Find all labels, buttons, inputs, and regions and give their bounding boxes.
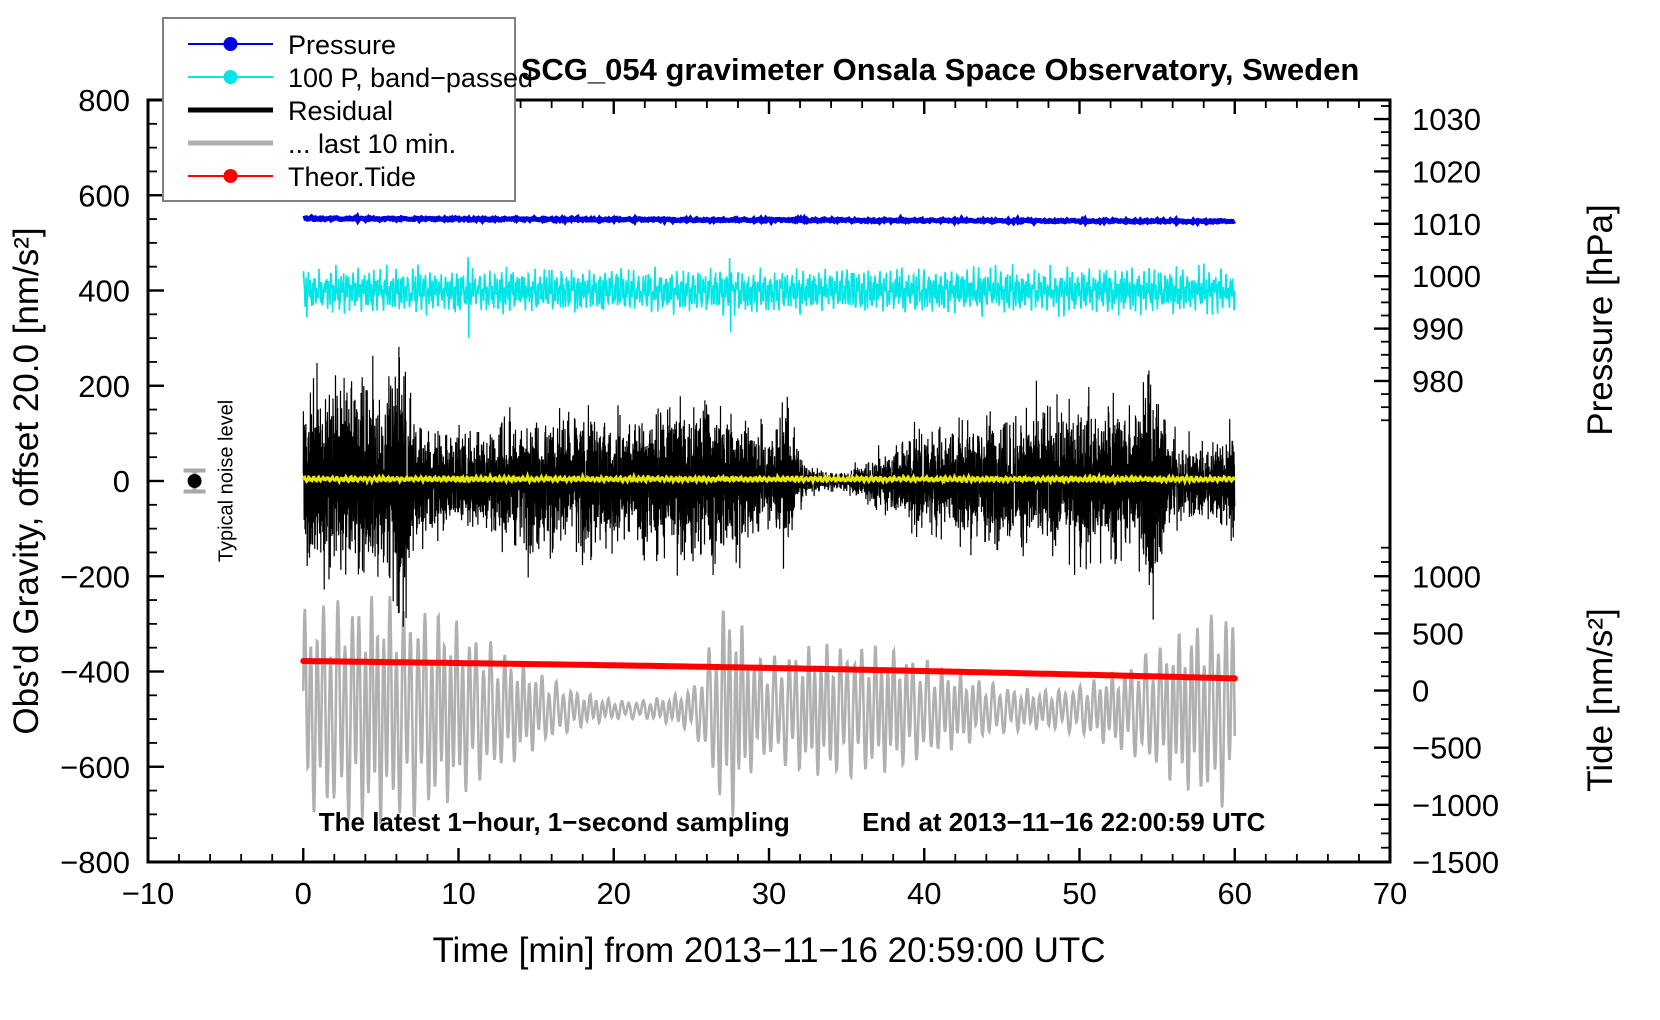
legend-marker-4 (224, 169, 238, 183)
series-last10min (303, 596, 1235, 824)
annotation-typical-noise-level: Typical noise level (216, 400, 238, 562)
pressure-axis-title: Pressure [hPa] (1581, 204, 1620, 436)
x-axis-title: Time [min] from 2013−11−16 20:59:00 UTC (432, 931, 1105, 970)
x-tick-label: 10 (441, 876, 475, 911)
y-tick-label: 200 (78, 369, 130, 404)
noise-errorbar-dot (188, 474, 202, 488)
legend-label-1: 100 P, band−passed (288, 63, 533, 93)
series-residual (303, 347, 1235, 627)
y-tick-label: 800 (78, 83, 130, 118)
tide-tick-label: 500 (1412, 616, 1464, 651)
pressure-tick-label: 1020 (1412, 154, 1481, 189)
y-axis-title: Obs'd Gravity, offset 20.0 [nm/s²] (7, 227, 46, 734)
y-tick-label: −400 (60, 655, 130, 690)
x-tick-label: 60 (1218, 876, 1252, 911)
legend-label-0: Pressure (288, 30, 396, 60)
gravimeter-plot: −10010203040506070−800−600−400−200020040… (0, 0, 1660, 1020)
legend-label-3: ... last 10 min. (288, 129, 456, 159)
pressure-tick-label: 1000 (1412, 259, 1481, 294)
x-tick-label: 70 (1373, 876, 1407, 911)
y-tick-label: 600 (78, 178, 130, 213)
tide-tick-label: 0 (1412, 674, 1429, 709)
x-tick-label: 50 (1062, 876, 1096, 911)
tide-tick-label: −1500 (1412, 845, 1499, 880)
legend: Pressure100 P, band−passedResidual... la… (163, 18, 533, 201)
tide-tick-label: −1000 (1412, 788, 1499, 823)
annotation-end-time: End at 2013−11−16 22:00:59 UTC (862, 807, 1265, 837)
plot-title: SCG_054 gravimeter Onsala Space Observat… (521, 52, 1360, 87)
y-tick-label: −200 (60, 559, 130, 594)
annotation-sampling: The latest 1−hour, 1−second sampling (319, 807, 790, 837)
legend-marker-1 (224, 70, 238, 84)
tide-tick-label: −500 (1412, 731, 1482, 766)
series-bandpassed (303, 257, 1235, 338)
chart-canvas: −10010203040506070−800−600−400−200020040… (0, 0, 1660, 1020)
pressure-tick-label: 1030 (1412, 102, 1481, 137)
pressure-tick-label: 1010 (1412, 207, 1481, 242)
y-tick-label: −600 (60, 750, 130, 785)
legend-marker-0 (224, 37, 238, 51)
pressure-tick-label: 980 (1412, 364, 1464, 399)
series-pressure (303, 217, 1235, 223)
x-tick-label: 40 (907, 876, 941, 911)
x-tick-label: 20 (597, 876, 631, 911)
legend-label-2: Residual (288, 96, 393, 126)
x-tick-label: 30 (752, 876, 786, 911)
x-tick-label: 0 (295, 876, 312, 911)
x-tick-label: −10 (122, 876, 175, 911)
tide-axis-title: Tide [nm/s²] (1581, 608, 1620, 791)
y-tick-label: −800 (60, 845, 130, 880)
tide-tick-label: 1000 (1412, 559, 1481, 594)
y-tick-label: 400 (78, 274, 130, 309)
pressure-tick-label: 990 (1412, 312, 1464, 347)
y-tick-label: 0 (113, 464, 130, 499)
legend-label-4: Theor.Tide (288, 162, 416, 192)
